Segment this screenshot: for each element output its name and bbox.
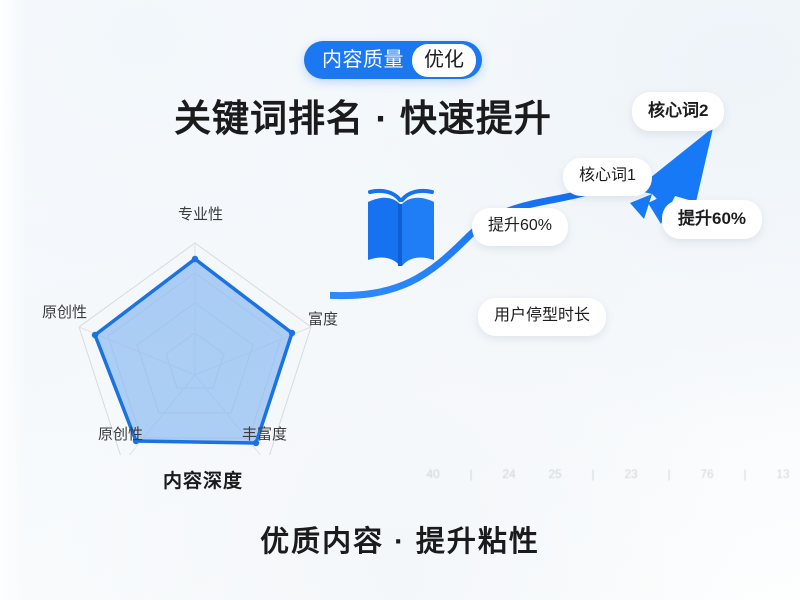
faint-axis-tick: | — [654, 467, 684, 481]
faint-axis-value: 23 — [608, 467, 654, 481]
badge-chip-label: 优化 — [412, 44, 476, 77]
pill-uplift-left[interactable]: 提升60% — [472, 208, 568, 246]
faint-axis-scale: 40 | 24 25 | 23 | 76 | 13 — [410, 462, 790, 486]
pill-keyword-1[interactable]: 核心词1 — [563, 158, 652, 196]
faint-axis-value: 24 — [486, 467, 532, 481]
content-quality-badge[interactable]: 内容质量 优化 — [304, 41, 482, 79]
radar-label-top: 专业性 — [178, 203, 223, 224]
radar-data-polygon — [95, 259, 292, 443]
radar-label-right: 富度 — [308, 308, 338, 329]
faint-axis-value: 76 — [684, 467, 730, 481]
faint-axis-value: 25 — [532, 467, 578, 481]
faint-axis-tick: | — [730, 467, 760, 481]
radar-label-left: 原创性 — [42, 301, 87, 322]
open-book-icon — [362, 186, 440, 272]
poster-canvas: 内容质量 优化 关键词排名 · 快速提升 — [0, 0, 800, 600]
content-depth-caption: 内容深度 — [163, 466, 243, 493]
radar-label-bottom-right: 丰富度 — [242, 423, 287, 444]
faint-axis-value: 40 — [410, 467, 456, 481]
pill-uplift-right[interactable]: 提升60% — [662, 200, 762, 239]
faint-axis-tick: | — [456, 467, 486, 481]
pill-dwell-time[interactable]: 用户停型时长 — [478, 298, 606, 336]
faint-axis-value: 13 — [760, 467, 800, 481]
faint-axis-tick: | — [578, 467, 608, 481]
bottom-headline: 优质内容 · 提升粘性 — [0, 518, 800, 560]
radar-chart: 专业性 原创性 富度 原创性 丰富度 — [30, 195, 360, 455]
radar-label-bottom-left: 原创性 — [98, 423, 143, 444]
pill-keyword-2[interactable]: 核心词2 — [632, 92, 724, 131]
badge-main-label: 内容质量 — [322, 50, 412, 70]
